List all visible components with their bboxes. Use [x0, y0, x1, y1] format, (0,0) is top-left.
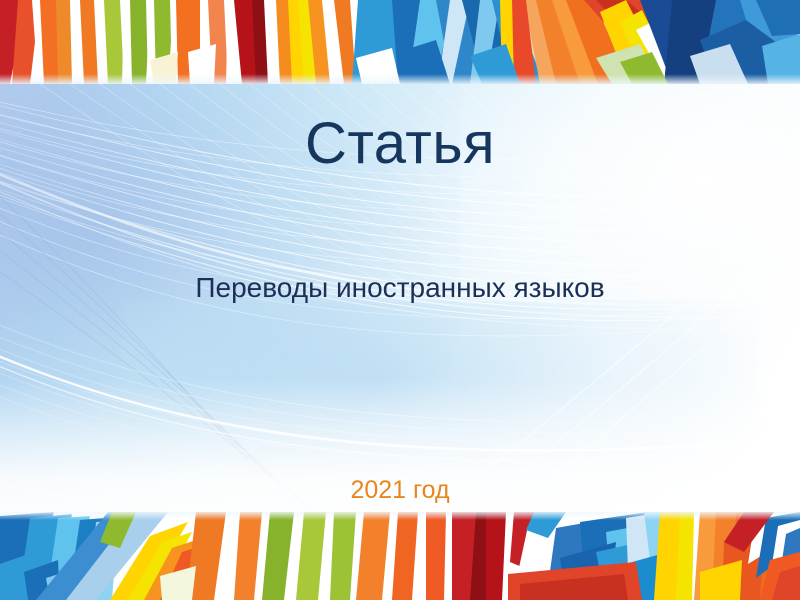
slide-subtitle: Переводы иностранных языков: [0, 271, 800, 305]
top-band-soft-edge: [0, 74, 800, 84]
top-shard-artwork: [0, 0, 800, 84]
presentation-slide: Статья Переводы иностранных языков 2021 …: [0, 0, 800, 600]
bottom-decorative-border: [0, 512, 800, 600]
slide-title: Статья: [0, 110, 800, 178]
bottom-band-soft-edge: [0, 512, 800, 520]
top-decorative-border: [0, 0, 800, 84]
bottom-shard-artwork: [0, 512, 800, 600]
slide-year: 2021 год: [0, 475, 800, 505]
